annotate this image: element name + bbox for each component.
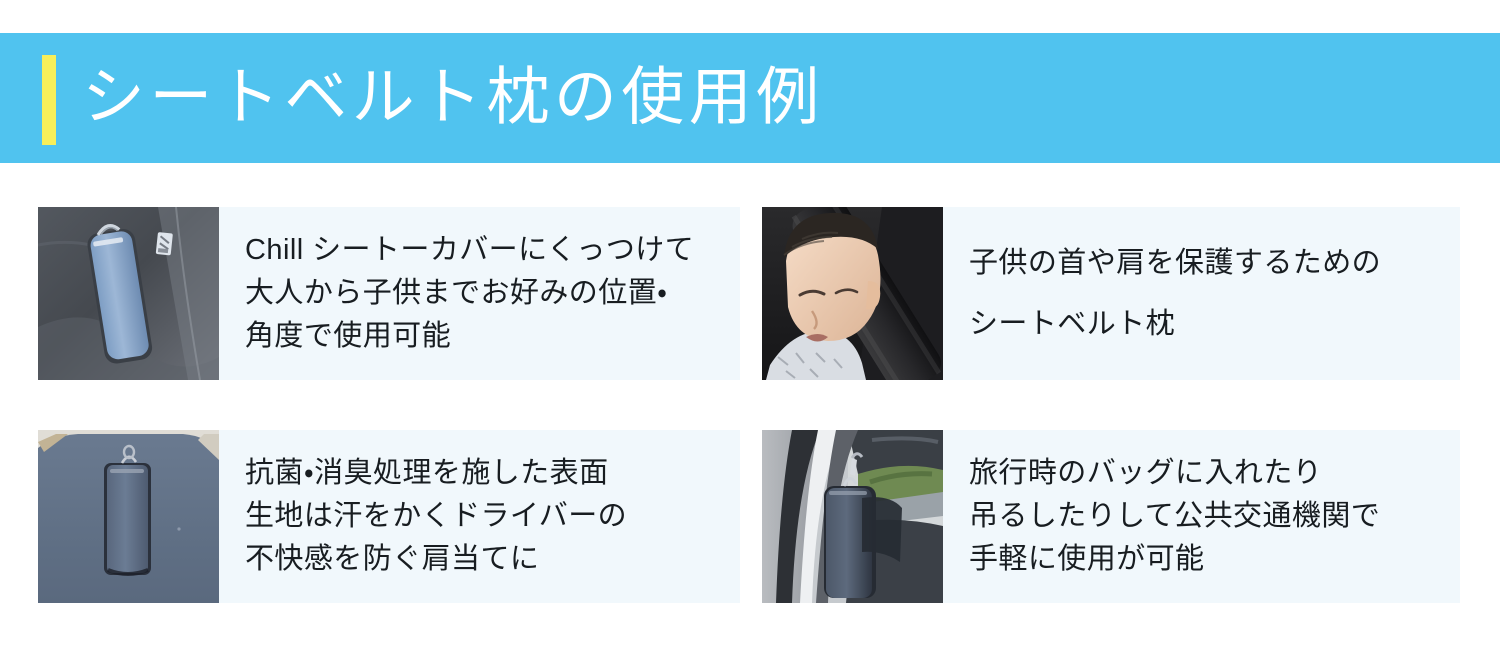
- photo-pillow-hanging-in-car: [762, 430, 943, 603]
- usage-example-grid: Chill シートーカバーにくっつけて 大人から子供までお好みの位置・ 角度で使…: [0, 207, 1500, 653]
- usage-card-3-line-2: 生地は汗をかくドライバーの: [245, 495, 728, 538]
- photo-child-sleeping-on-pillow: [762, 207, 943, 380]
- page-title: シートベルト枕の使用例: [82, 67, 824, 130]
- card-row-1: Chill シートーカバーにくっつけて 大人から子供までお好みの位置・ 角度で使…: [0, 207, 1500, 380]
- usage-card-1-text: Chill シートーカバーにくっつけて 大人から子供までお好みの位置・ 角度で使…: [219, 207, 740, 380]
- usage-card-4-line-2: 吊るしたりして公共交通機関で: [969, 495, 1448, 538]
- page-header-band: シートベルト枕の使用例: [0, 33, 1500, 163]
- usage-card-2-text: 子供の首や肩を保護するための シートベルト枕: [943, 207, 1460, 380]
- photo-pillow-on-seat-cover: [38, 207, 219, 380]
- usage-card-4[interactable]: 旅行時のバッグに入れたり 吊るしたりして公共交通機関で 手軽に使用が可能: [762, 430, 1460, 603]
- usage-card-3-text: 抗菌・消臭処理を施した表面 生地は汗をかくドライバーの 不快感を防ぐ肩当てに: [219, 430, 740, 603]
- card-row-2: 抗菌・消臭処理を施した表面 生地は汗をかくドライバーの 不快感を防ぐ肩当てに: [0, 430, 1500, 603]
- usage-card-4-line-3: 手軽に使用が可能: [969, 538, 1448, 581]
- usage-card-1[interactable]: Chill シートーカバーにくっつけて 大人から子供までお好みの位置・ 角度で使…: [38, 207, 740, 380]
- usage-card-3[interactable]: 抗菌・消臭処理を施した表面 生地は汗をかくドライバーの 不快感を防ぐ肩当てに: [38, 430, 740, 603]
- usage-card-3-line-1: 抗菌・消臭処理を施した表面: [245, 452, 728, 495]
- usage-card-4-line-1: 旅行時のバッグに入れたり: [969, 452, 1448, 495]
- header-accent-bar: [42, 55, 56, 145]
- photo-pillow-flat-on-seat: [38, 430, 219, 603]
- usage-card-1-line-2: 大人から子供までお好みの位置・: [245, 272, 728, 315]
- usage-card-2-line-2: シートベルト枕: [969, 294, 1448, 355]
- usage-card-1-line-3: 角度で使用可能: [245, 315, 728, 358]
- usage-card-2-line-1: 子供の首や肩を保護するための: [969, 233, 1448, 294]
- usage-card-3-line-3: 不快感を防ぐ肩当てに: [245, 538, 728, 581]
- usage-card-2[interactable]: 子供の首や肩を保護するための シートベルト枕: [762, 207, 1460, 380]
- usage-card-1-line-1: Chill シートーカバーにくっつけて: [245, 229, 728, 272]
- usage-card-4-text: 旅行時のバッグに入れたり 吊るしたりして公共交通機関で 手軽に使用が可能: [943, 430, 1460, 603]
